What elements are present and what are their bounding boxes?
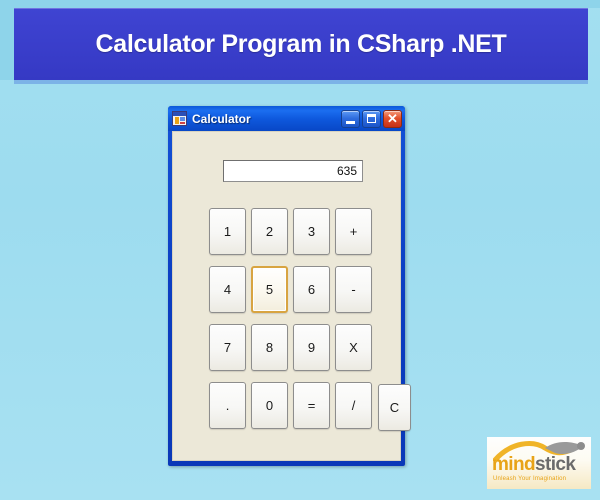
key-5[interactable]: 5: [251, 266, 288, 313]
minimize-button[interactable]: [341, 110, 360, 128]
key-plus[interactable]: +: [335, 208, 372, 255]
window-title: Calculator: [192, 112, 341, 126]
banner-left-margin: [0, 8, 14, 80]
calculator-window: Calculator ✕ 635 1 2 3 +: [168, 106, 405, 466]
maximize-icon: [367, 114, 376, 123]
logo-wordmark: mindstick: [492, 455, 588, 475]
top-strip: [0, 0, 600, 8]
key-1[interactable]: 1: [209, 208, 246, 255]
app-form-icon: [172, 111, 187, 126]
key-4[interactable]: 4: [209, 266, 246, 313]
key-minus[interactable]: -: [335, 266, 372, 313]
page-banner: Calculator Program in CSharp .NET: [14, 8, 588, 80]
logo-word-second: stick: [535, 454, 575, 475]
maximize-button[interactable]: [362, 110, 381, 128]
key-9[interactable]: 9: [293, 324, 330, 371]
key-multiply[interactable]: X: [335, 324, 372, 371]
page-background: Calculator Program in CSharp .NET Calcul…: [0, 0, 600, 500]
key-0[interactable]: 0: [251, 382, 288, 429]
key-3[interactable]: 3: [293, 208, 330, 255]
key-7[interactable]: 7: [209, 324, 246, 371]
window-controls: ✕: [341, 110, 402, 128]
key-8[interactable]: 8: [251, 324, 288, 371]
key-clear[interactable]: C: [378, 384, 411, 431]
display-value: 635: [337, 164, 357, 178]
minimize-icon: [346, 121, 355, 124]
banner-underline: [14, 80, 588, 84]
key-decimal[interactable]: .: [209, 382, 246, 429]
key-divide[interactable]: /: [335, 382, 372, 429]
calculator-display[interactable]: 635: [223, 160, 363, 182]
page-title: Calculator Program in CSharp .NET: [95, 30, 506, 59]
close-icon: ✕: [384, 111, 401, 127]
key-6[interactable]: 6: [293, 266, 330, 313]
logo-tagline: Unleash Your Imagination: [493, 476, 566, 482]
window-titlebar[interactable]: Calculator ✕: [168, 106, 405, 131]
mindstick-logo: mindstick Unleash Your Imagination: [487, 437, 591, 489]
key-equals[interactable]: =: [293, 382, 330, 429]
close-button[interactable]: ✕: [383, 110, 402, 128]
window-client-area: 635 1 2 3 + 4 5 6 - 7 8 9 X . 0 = / C: [172, 131, 401, 461]
key-2[interactable]: 2: [251, 208, 288, 255]
calculator-keypad: 1 2 3 + 4 5 6 - 7 8 9 X . 0 = /: [209, 208, 373, 429]
logo-word-first: mind: [492, 454, 535, 475]
